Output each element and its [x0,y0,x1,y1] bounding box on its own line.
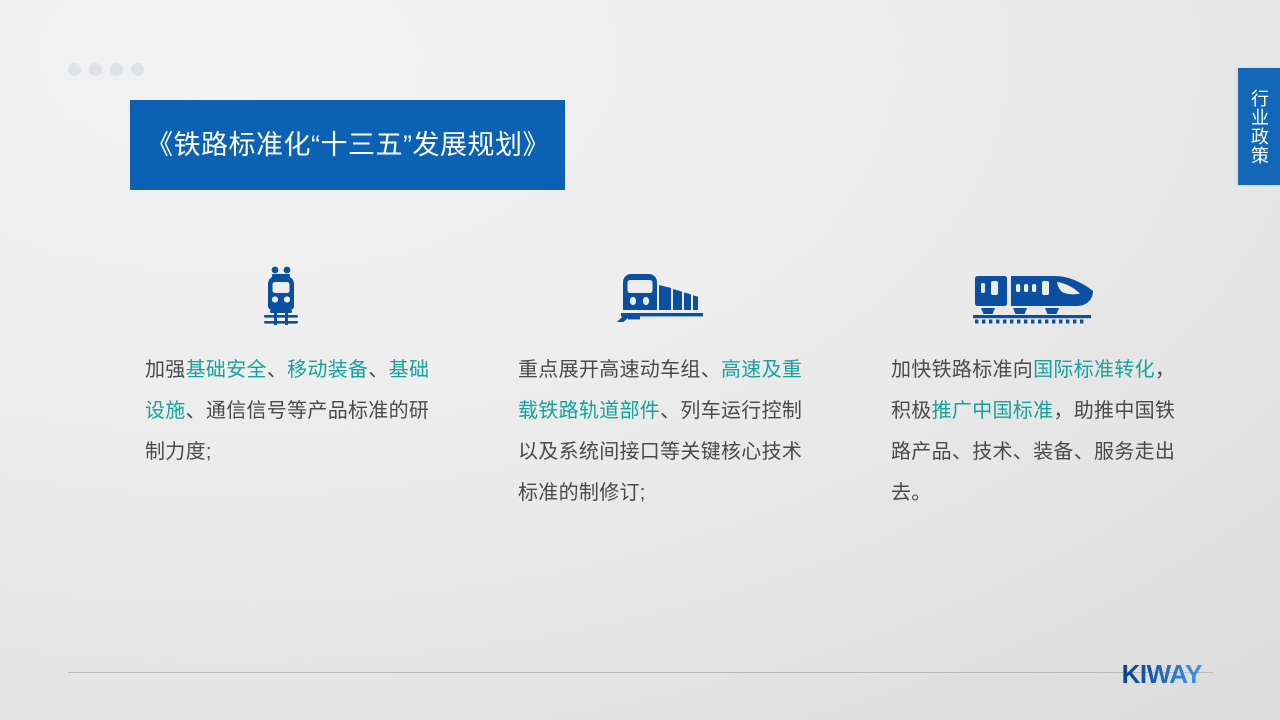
section-tab-industry-policy[interactable]: 行业政策 [1238,68,1280,185]
icon-slot-1 [145,250,518,328]
text-segment-highlight: 移动装备 [287,359,368,381]
column-1-text: 加强基础安全、移动装备、基础设施、通信信号等产品标准的研制力度; [145,350,445,473]
content-columns: 加强基础安全、移动装备、基础设施、通信信号等产品标准的研制力度; [0,250,1280,514]
text-segment: 、通信信号等产品标准的研制力度; [145,400,429,463]
text-segment: 、 [267,359,287,381]
brand-logo-text: KIWAY [1122,659,1202,690]
decorative-dot [131,63,144,76]
title-banner: 《铁路标准化“十三五”发展规划》 [130,100,565,190]
train-perspective-icon [615,266,711,328]
high-speed-train-icon [973,268,1097,328]
icon-slot-3 [891,250,1264,328]
brand-logo: KIWAY [1122,660,1202,688]
train-front-icon [255,266,307,328]
column-3-text: 加快铁路标准向国际标准转化，积极推广中国标准，助推中国铁路产品、技术、装备、服务… [891,350,1191,514]
icon-slot-2 [518,250,891,328]
text-segment-highlight: 国际标准转化 [1033,359,1155,381]
text-segment: 、 [368,359,388,381]
text-segment: 重点展开高速动车组、 [518,359,721,381]
text-segment: 加快铁路标准向 [891,359,1033,381]
section-tab-label: 行业政策 [1246,89,1272,165]
decorative-dot [89,63,102,76]
text-segment-highlight: 推广中国标准 [932,400,1054,422]
content-column-3: 加快铁路标准向国际标准转化，积极推广中国标准，助推中国铁路产品、技术、装备、服务… [891,250,1264,514]
footer-divider [68,672,1213,673]
text-segment: 加强 [145,359,186,381]
decorative-dots [68,63,144,76]
column-2-text: 重点展开高速动车组、高速及重载铁路轨道部件、列车运行控制以及系统间接口等关键核心… [518,350,818,514]
decorative-dot [68,63,81,76]
text-segment-highlight: 基础安全 [186,359,267,381]
content-column-1: 加强基础安全、移动装备、基础设施、通信信号等产品标准的研制力度; [145,250,518,514]
decorative-dot [110,63,123,76]
content-column-2: 重点展开高速动车组、高速及重载铁路轨道部件、列车运行控制以及系统间接口等关键核心… [518,250,891,514]
page-title: 《铁路标准化“十三五”发展规划》 [146,126,549,164]
slide-canvas: 《铁路标准化“十三五”发展规划》 行业政策 [0,0,1280,720]
